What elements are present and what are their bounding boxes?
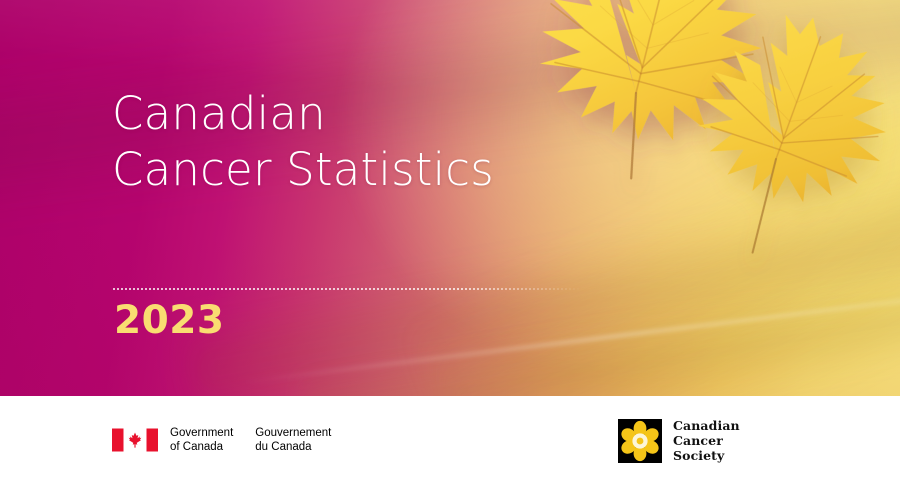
page-title-line-1: Canadian bbox=[112, 86, 582, 142]
footer: Government of Canada Gouvernement du Can… bbox=[0, 396, 900, 486]
year-label: 2023 bbox=[114, 298, 225, 344]
banner: Canadian Cancer Statistics 2023 bbox=[0, 0, 900, 396]
government-wordmark: Government of Canada Gouvernement du Can… bbox=[170, 426, 331, 454]
daffodil-icon bbox=[618, 419, 662, 463]
government-of-canada-logo: Government of Canada Gouvernement du Can… bbox=[112, 426, 331, 454]
canadian-cancer-society-logo: Canadian Cancer Society bbox=[618, 418, 740, 463]
title-divider bbox=[112, 288, 582, 290]
headline-block: Canadian Cancer Statistics 2023 bbox=[112, 86, 582, 198]
ccs-wordmark: Canadian Cancer Society bbox=[673, 418, 740, 463]
wordmark-french: Gouvernement du Canada bbox=[255, 426, 331, 454]
page-title-line-2: Cancer Statistics bbox=[112, 142, 582, 198]
cancer-statistics-cover: Canadian Cancer Statistics 2023 Governme… bbox=[0, 0, 900, 486]
wordmark-english: Government of Canada bbox=[170, 426, 233, 454]
canada-flag-icon bbox=[112, 428, 158, 452]
